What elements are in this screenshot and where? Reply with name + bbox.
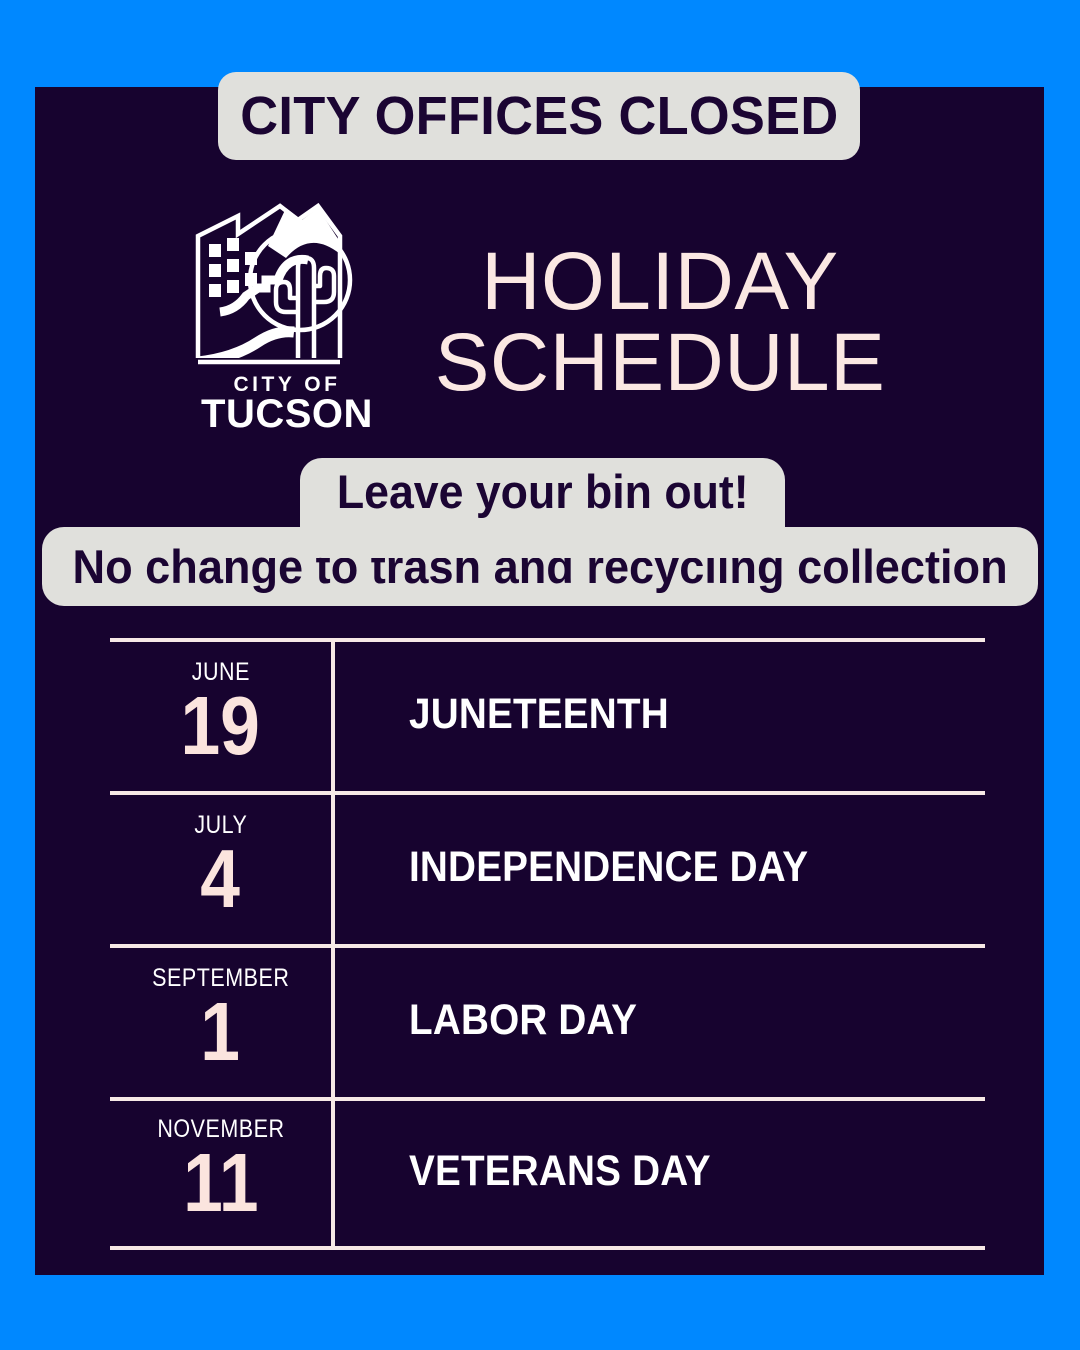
city-of-tucson-logo-mark: CITY OF TUCSON <box>190 190 385 435</box>
holiday-schedule-table: JUNE 19 JUNETEENTH JULY 4 INDEPENDENCE D… <box>110 638 985 1250</box>
date-cell: JUNE 19 <box>110 638 331 791</box>
holiday-cell: JUNETEENTH <box>331 638 985 791</box>
day-number: 11 <box>183 1144 258 1222</box>
holiday-name: VETERANS DAY <box>409 1147 711 1196</box>
day-number: 1 <box>201 993 241 1071</box>
page-title: HOLIDAY SCHEDULE <box>400 205 920 440</box>
date-cell: SEPTEMBER 1 <box>110 944 331 1097</box>
holiday-cell: VETERANS DAY <box>331 1097 985 1246</box>
logo-tucson-text: TUCSON <box>201 392 373 435</box>
holiday-name: JUNETEENTH <box>409 690 669 739</box>
holiday-cell: INDEPENDENCE DAY <box>331 791 985 944</box>
city-offices-closed-label: CITY OFFICES CLOSED <box>240 85 838 147</box>
leave-bin-out-banner: Leave your bin out! <box>300 458 785 558</box>
logo-path <box>198 332 294 362</box>
day-number: 19 <box>181 687 260 765</box>
holiday-cell: LABOR DAY <box>331 944 985 1097</box>
table-rule <box>110 1246 985 1250</box>
table-row: JUNE 19 JUNETEENTH <box>110 638 985 791</box>
city-of-tucson-logo: CITY OF TUCSON <box>190 190 385 435</box>
headline-line-1: HOLIDAY <box>481 242 838 322</box>
table-row: JULY 4 INDEPENDENCE DAY <box>110 791 985 944</box>
holiday-name: LABOR DAY <box>409 996 637 1045</box>
table-row: SEPTEMBER 1 LABOR DAY <box>110 944 985 1097</box>
table-row: NOVEMBER 11 VETERANS DAY <box>110 1097 985 1246</box>
city-offices-closed-banner: CITY OFFICES CLOSED <box>218 72 860 160</box>
holiday-name: INDEPENDENCE DAY <box>409 843 808 892</box>
date-cell: NOVEMBER 11 <box>110 1097 331 1246</box>
day-number: 4 <box>201 840 241 918</box>
date-cell: JULY 4 <box>110 791 331 944</box>
leave-bin-out-label: Leave your bin out! <box>337 464 749 519</box>
holiday-schedule-poster: CITY OFFICES CLOSED <box>0 0 1080 1350</box>
headline-line-2: SCHEDULE <box>435 323 886 403</box>
